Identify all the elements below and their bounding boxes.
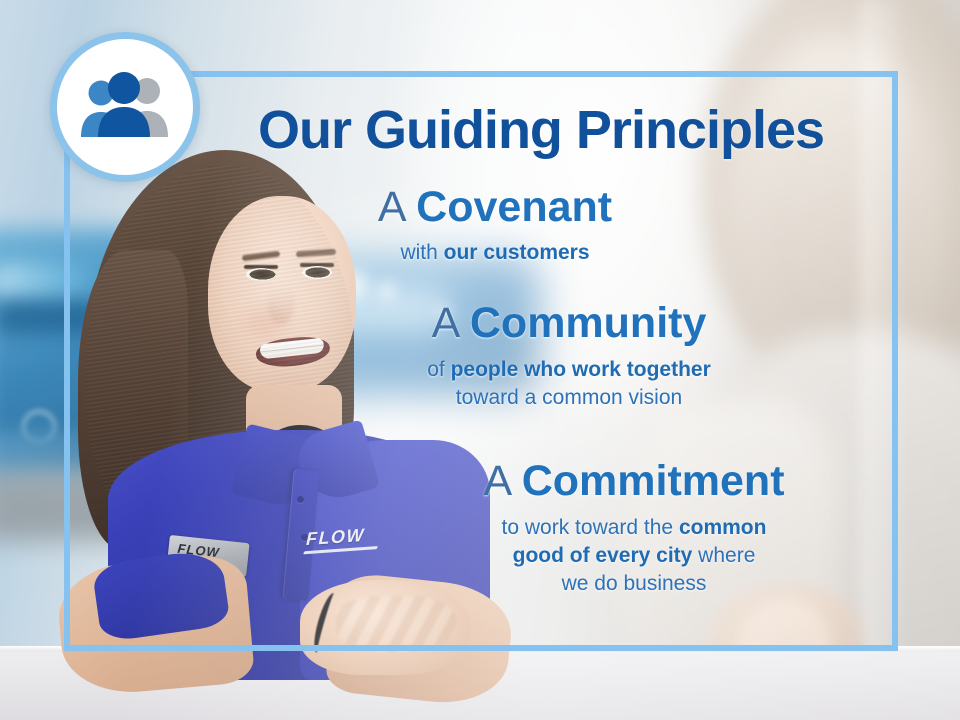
principle-article: A bbox=[378, 183, 416, 231]
principle-keyword: Community bbox=[470, 299, 707, 347]
subtext-line: we do business bbox=[374, 570, 894, 598]
subtext-line: toward a common vision bbox=[314, 384, 824, 412]
principle-subtext-community: of people who work togethertoward a comm… bbox=[314, 356, 824, 412]
subtext-line: to work toward the common bbox=[374, 514, 894, 542]
principle-heading-commitment: A Commitment bbox=[374, 459, 894, 504]
subtext-line: with our customers bbox=[260, 239, 730, 267]
principle-keyword: Commitment bbox=[522, 457, 785, 505]
subtext-line: of people who work together bbox=[314, 356, 824, 384]
poster-text-content: Our Guiding Principles A Covenant with o… bbox=[64, 71, 898, 651]
principle-subtext-commitment: to work toward the commongood of every c… bbox=[374, 514, 894, 598]
subtext-line: good of every city where bbox=[374, 542, 894, 570]
principle-block-commitment: A Commitment to work toward the commongo… bbox=[374, 459, 894, 598]
principle-article: A bbox=[432, 299, 470, 347]
principle-heading-community: A Community bbox=[314, 301, 824, 346]
page-title: Our Guiding Principles bbox=[216, 99, 866, 161]
principle-subtext-covenant: with our customers bbox=[260, 239, 730, 267]
principle-heading-covenant: A Covenant bbox=[260, 185, 730, 230]
principle-block-community: A Community of people who work togethert… bbox=[314, 301, 824, 412]
principle-keyword: Covenant bbox=[416, 183, 612, 231]
principle-block-covenant: A Covenant with our customers bbox=[260, 185, 730, 267]
principle-article: A bbox=[483, 457, 521, 505]
